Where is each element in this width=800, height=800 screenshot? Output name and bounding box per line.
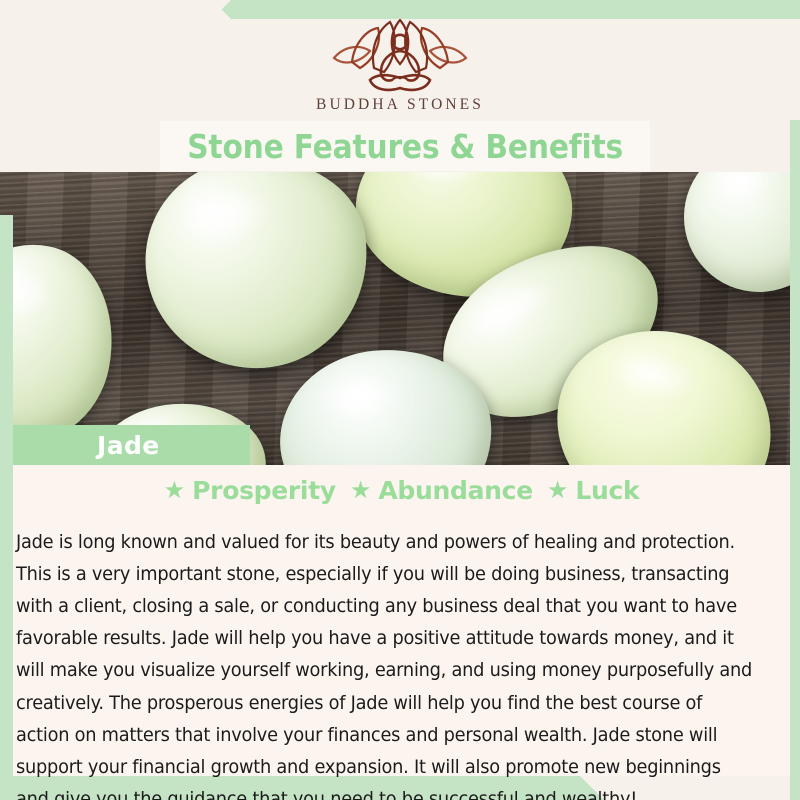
- brand-wordmark: BUDDHA STONES: [0, 96, 800, 114]
- lotus-meditation-icon: [326, 18, 474, 92]
- hero-photo: [0, 172, 800, 465]
- title-banner: Stone Features & Benefits: [160, 121, 650, 171]
- star-icon: ★: [164, 479, 186, 503]
- keyword-abundance: Abundance: [378, 478, 532, 503]
- star-icon: ★: [547, 479, 569, 503]
- decor-left-green-stripe: [0, 215, 13, 785]
- stone-name-band: Jade: [13, 425, 250, 465]
- content-panel: ★Prosperity★Abundance★Luck Jade is long …: [13, 465, 790, 776]
- poster-page: BUDDHA STONES Stone Features & Benefits …: [0, 0, 800, 800]
- keyword-luck: Luck: [575, 478, 639, 503]
- description-text: Jade is long known and valued for its be…: [16, 527, 753, 800]
- keyword-prosperity: Prosperity: [192, 478, 336, 503]
- keyword-list: ★Prosperity★Abundance★Luck: [13, 478, 790, 503]
- page-title: Stone Features & Benefits: [187, 130, 623, 163]
- brand-logo: BUDDHA STONES: [0, 18, 800, 114]
- stone-name-label: Jade: [97, 433, 160, 458]
- decor-right-green-stripe: [790, 0, 800, 800]
- star-icon: ★: [350, 479, 372, 503]
- decor-top-green-band: [212, 0, 800, 19]
